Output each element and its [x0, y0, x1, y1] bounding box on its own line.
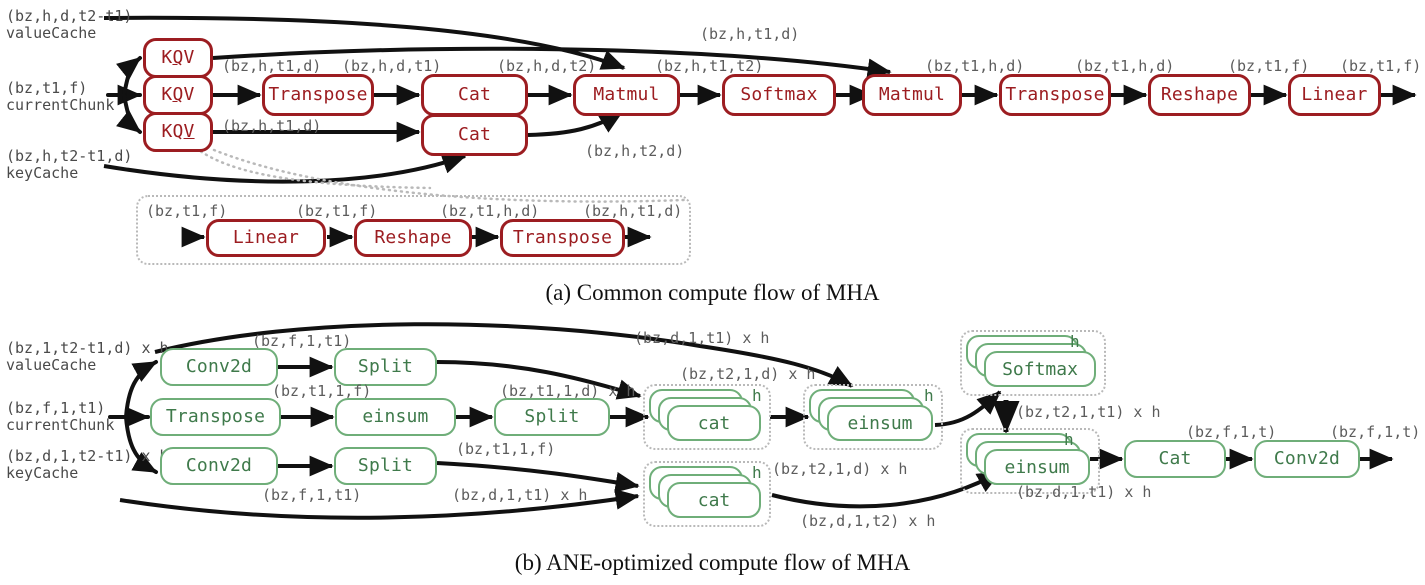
edge-label-a-2: (bz,h,d,t2) [497, 58, 596, 74]
node-cat-bottom-stack[interactable]: cat [649, 466, 765, 522]
node-label: Split [358, 457, 413, 475]
stack-front: einsum [827, 405, 933, 441]
edge-label-exp-3: (bz,h,t1,d) [583, 203, 682, 219]
stack-multiplier-einsum-out: h [1064, 430, 1074, 449]
node-conv2d-final[interactable]: Conv2d [1254, 440, 1360, 478]
node-transpose-b[interactable]: Transpose [150, 398, 281, 436]
edge-label-a-8: (bz,t1,f) [1340, 58, 1421, 74]
node-label: Matmul [879, 86, 945, 104]
node-cat-final[interactable]: Cat [1124, 440, 1226, 478]
input-shape: (bz,f,1,t1) [6, 400, 114, 417]
node-expansion-linear[interactable]: Linear [206, 219, 326, 257]
node-label: Transpose [513, 229, 612, 247]
edge-label-a-1: (bz,h,d,t1) [342, 58, 441, 74]
node-label: Split [358, 358, 413, 376]
node-label: KQV [161, 49, 194, 67]
figure-root: (bz,h,d,t2-t1) valueCache (bz,t1,f) curr… [0, 0, 1425, 585]
node-label: einsum [847, 413, 912, 434]
node-linear[interactable]: Linear [1288, 74, 1381, 116]
input-shape: (bz,h,d,t2-t1) [6, 8, 132, 25]
panel-a-input-keycache: (bz,h,t2-t1,d) keyCache [6, 148, 132, 182]
node-cat-top[interactable]: Cat [421, 74, 528, 116]
node-label: einsum [1004, 457, 1069, 478]
edge-label-b-0: (bz,f,1,t1) [252, 333, 351, 349]
node-conv2d-value[interactable]: Conv2d [160, 348, 278, 386]
panel-a-input-currentchunk: (bz,t1,f) currentChunk [6, 80, 114, 114]
node-einsum-out-stack[interactable]: einsum [966, 433, 1094, 489]
node-kqv-q[interactable]: KQV [143, 75, 213, 115]
input-shape: (bz,t1,f) [6, 80, 114, 97]
node-expansion-reshape[interactable]: Reshape [354, 219, 472, 257]
node-matmul-2[interactable]: Matmul [862, 74, 962, 116]
node-label: Transpose [166, 408, 265, 426]
node-transpose-2[interactable]: Transpose [999, 74, 1111, 116]
node-label: Split [524, 408, 579, 426]
node-einsum-b1[interactable]: einsum [335, 398, 456, 436]
edge-label-a-9: (bz,h,t1,d) [222, 118, 321, 134]
edge-label-a-4: (bz,h,t1,d) [700, 26, 799, 42]
node-split-value[interactable]: Split [334, 348, 437, 386]
node-softmax[interactable]: Softmax [722, 74, 836, 116]
node-einsum-mid-stack[interactable]: einsum [809, 389, 937, 445]
stack-front: cat [667, 405, 761, 441]
panel-b-input-currentchunk: (bz,f,1,t1) currentChunk [6, 400, 114, 434]
node-label: Linear [1301, 86, 1367, 104]
edge-label-exp-2: (bz,t1,h,d) [440, 203, 539, 219]
edge-label-b-3: (bz,t1,1,d) x h [500, 383, 635, 399]
node-transpose-1[interactable]: Transpose [262, 74, 374, 116]
edge-label-b-9: (bz,d,1,t2) x h [800, 513, 935, 529]
edge-label-exp-0: (bz,t1,f) [146, 203, 227, 219]
edge-label-a-0: (bz,h,t1,d) [222, 58, 321, 74]
edge-label-b-2: (bz,t1,1,f) [272, 383, 371, 399]
edge-label-a-5: (bz,t1,h,d) [925, 58, 1024, 74]
panel-a-caption: (a) Common compute flow of MHA [0, 280, 1425, 306]
edge-label-b-12: (bz,f,1,t) [1186, 424, 1276, 440]
node-label: KQV [161, 86, 194, 104]
node-split-key[interactable]: Split [334, 447, 437, 485]
panel-a-input-valuecache: (bz,h,d,t2-t1) valueCache [6, 8, 132, 42]
node-label: einsum [362, 408, 428, 426]
node-label: Softmax [740, 86, 817, 104]
edge-label-b-13: (bz,f,1,t) [1330, 424, 1420, 440]
node-label: Conv2d [186, 457, 252, 475]
input-name: valueCache [6, 357, 169, 374]
edge-label-a-10: (bz,h,t2,d) [585, 143, 684, 159]
input-shape: (bz,h,t2-t1,d) [6, 148, 132, 165]
node-label: Transpose [1005, 86, 1104, 104]
node-label: Conv2d [1274, 450, 1340, 468]
stack-multiplier-einsum-mid: h [924, 386, 934, 405]
edge-label-a-3: (bz,h,t1,t2) [655, 58, 763, 74]
node-softmax-stack[interactable]: Softmax [966, 335, 1100, 391]
edge-label-b-7: (bz,d,1,t1) x h [452, 487, 587, 503]
edge-label-b-6: (bz,f,1,t1) [262, 487, 361, 503]
node-kqv-k[interactable]: KQV [143, 112, 213, 152]
node-label: Conv2d [186, 358, 252, 376]
node-label: Cat [458, 86, 491, 104]
input-name: currentChunk [6, 417, 114, 434]
node-label: cat [698, 490, 731, 511]
node-label: Cat [458, 126, 491, 144]
input-shape: (bz,1,t2-t1,d) x h [6, 340, 169, 357]
node-kqv-v[interactable]: KQV [143, 38, 213, 78]
edge-label-b-11: (bz,d,1,t1) x h [1016, 484, 1151, 500]
node-label: cat [698, 413, 731, 434]
edge-label-b-10: (bz,t2,1,t1) x h [1016, 404, 1161, 420]
stack-front: Softmax [984, 351, 1096, 387]
edge-label-a-7: (bz,t1,f) [1228, 58, 1309, 74]
edge-label-exp-1: (bz,t1,f) [296, 203, 377, 219]
edge-label-b-1: (bz,d,1,t1) x h [634, 330, 769, 346]
node-matmul-1[interactable]: Matmul [573, 74, 680, 116]
node-cat-top-stack[interactable]: cat [649, 389, 765, 445]
input-name: keyCache [6, 165, 132, 182]
edge-label-b-4: (bz,t2,1,d) x h [680, 366, 815, 382]
stack-multiplier-softmax: h [1070, 332, 1080, 351]
node-label: Reshape [374, 229, 451, 247]
stack-multiplier-cat-top: h [752, 386, 762, 405]
node-label: Linear [233, 229, 299, 247]
stack-front: einsum [984, 449, 1090, 485]
node-reshape[interactable]: Reshape [1148, 74, 1251, 116]
node-label: Transpose [268, 86, 367, 104]
node-split-query[interactable]: Split [494, 398, 610, 436]
node-cat-bottom[interactable]: Cat [421, 114, 528, 156]
input-name: currentChunk [6, 97, 114, 114]
edge-label-b-5: (bz,t1,1,f) [456, 441, 555, 457]
node-label: Matmul [593, 86, 659, 104]
node-conv2d-key[interactable]: Conv2d [160, 447, 278, 485]
stack-front: cat [667, 482, 761, 518]
input-name: keyCache [6, 465, 169, 482]
node-expansion-transpose[interactable]: Transpose [500, 219, 625, 257]
stack-multiplier-cat-bottom: h [752, 463, 762, 482]
node-label: Reshape [1161, 86, 1238, 104]
panel-b-input-valuecache: (bz,1,t2-t1,d) x h valueCache [6, 340, 169, 374]
panel-b-input-keycache: (bz,d,1,t2-t1) x h keyCache [6, 448, 169, 482]
panel-b-caption: (b) ANE-optimized compute flow of MHA [0, 550, 1425, 576]
input-name: valueCache [6, 25, 132, 42]
edge-label-a-6: (bz,t1,h,d) [1075, 58, 1174, 74]
node-label: Cat [1158, 450, 1191, 468]
input-shape: (bz,d,1,t2-t1) x h [6, 448, 169, 465]
node-label: KQV [161, 123, 194, 141]
node-label: Softmax [1002, 359, 1078, 380]
edge-label-b-8: (bz,t2,1,d) x h [772, 461, 907, 477]
